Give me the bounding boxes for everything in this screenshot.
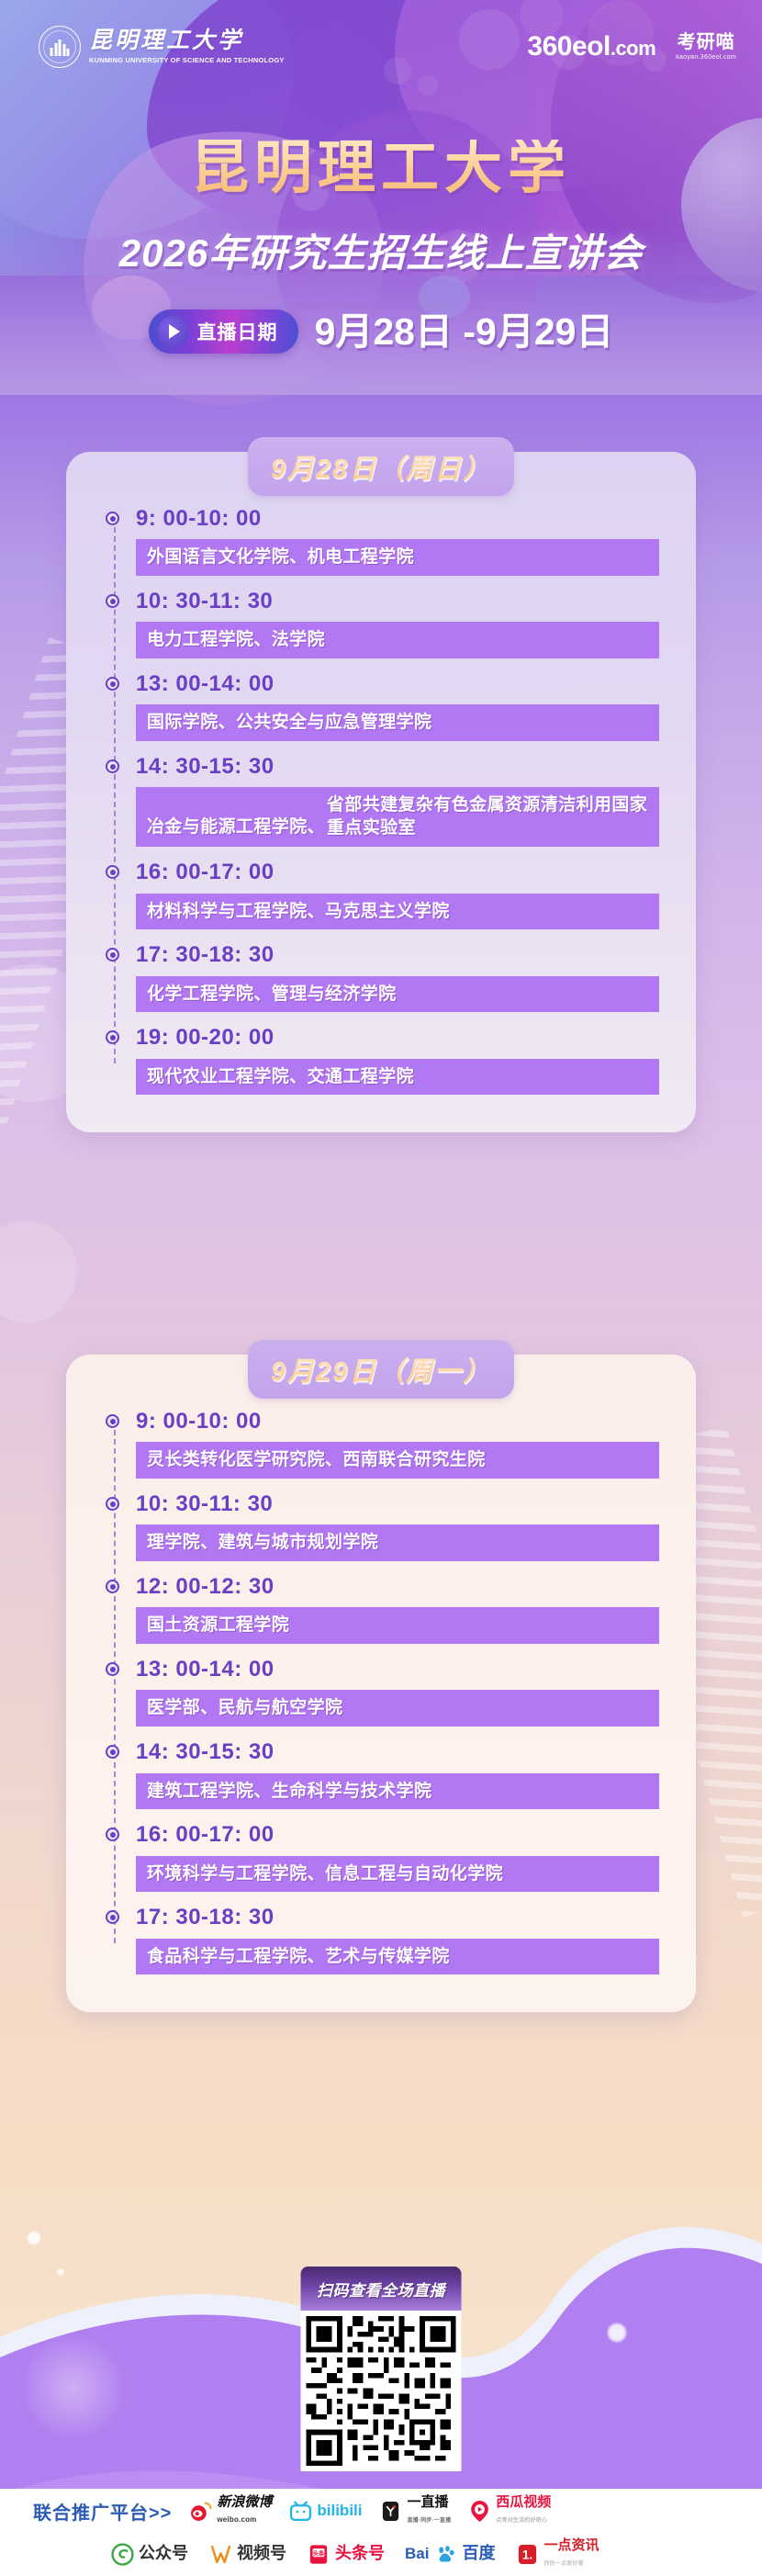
slot-time: 9: 00-10: 00 <box>136 1410 659 1434</box>
schedule-slot[interactable]: 9: 00-10: 00 外国语言文化学院、机电工程学院 <box>106 507 659 576</box>
poster-root: 昆明理工大学 KUNMING UNIVERSITY OF SCIENCE AND… <box>0 0 762 2576</box>
yidian-icon: 1. <box>515 2542 539 2566</box>
timeline-dot-icon <box>106 1414 119 1428</box>
slot-colleges: 建筑工程学院、生命科学与技术学院 <box>136 1773 659 1810</box>
timeline-dot-icon <box>106 1828 119 1841</box>
weibo-label: 新浪微博 weibo.com <box>217 2495 272 2526</box>
eol-logo-main: 360eol <box>527 31 610 62</box>
university-seal-icon <box>39 26 81 68</box>
timeline-dot-icon <box>106 1030 119 1044</box>
baidu-paw-icon <box>433 2542 457 2566</box>
qr-code-icon[interactable] <box>301 2311 462 2471</box>
toutiao-name: 头条号 <box>335 2544 385 2562</box>
kaoyan-url: kaoyan.360eol.com <box>676 54 736 61</box>
schedule-slot[interactable]: 14: 30-15: 30 冶金与能源工程学院、 省部共建复杂有色金属资源清洁利… <box>106 755 659 847</box>
bilibili-name: bilibili <box>317 2502 362 2519</box>
slot-colleges: 食品科学与工程学院、艺术与传媒学院 <box>136 1939 659 1975</box>
weibo-name-cn: 新浪微博 <box>217 2494 272 2510</box>
timeline-dot-icon <box>106 677 119 691</box>
timeline-dot-icon <box>106 1497 119 1511</box>
partner-wechat-official[interactable]: 公众号 <box>110 2538 188 2570</box>
slot-colleges: 材料科学与工程学院、马克思主义学院 <box>136 894 659 930</box>
timeline-dot-icon <box>106 1745 119 1759</box>
yizhibo-name-en: 直播·同步·一直播 <box>407 2518 451 2524</box>
university-name-cn: 昆明理工大学 <box>89 29 285 52</box>
footer-row-2: 公众号 视频号 头条 头条号 <box>0 2533 762 2576</box>
schedule-slot[interactable]: 17: 30-18: 30 化学工程学院、管理与经济学院 <box>106 943 659 1012</box>
slot-time: 17: 30-18: 30 <box>136 943 659 967</box>
wechat-official-label: 公众号 <box>139 2545 188 2563</box>
schedule-slot[interactable]: 13: 00-14: 00 国际学院、公共安全与应急管理学院 <box>106 672 659 741</box>
seal-bars-icon <box>50 39 70 56</box>
timeline-dot-icon <box>106 759 119 773</box>
slot-colleges: 化学工程学院、管理与经济学院 <box>136 976 659 1013</box>
timeline-dot-icon <box>106 594 119 608</box>
toutiao-label: 头条号 <box>335 2545 385 2563</box>
day2-badge: 9月29日（周一） <box>248 1340 514 1399</box>
baidu-wordmark: Bai <box>405 2546 429 2563</box>
channels-label: 视频号 <box>237 2545 286 2563</box>
channels-name: 视频号 <box>237 2544 286 2562</box>
schedule-slot[interactable]: 14: 30-15: 30 建筑工程学院、生命科学与技术学院 <box>106 1740 659 1809</box>
yizhibo-icon <box>378 2499 402 2523</box>
yidian-name-cn: 一点资讯 <box>543 2537 599 2553</box>
yizhibo-label: 一直播 直播·同步·一直播 <box>407 2495 451 2526</box>
xigua-name-cn: 西瓜视频 <box>496 2494 551 2510</box>
qr-caption: 扫码查看全场直播 <box>317 2278 445 2300</box>
eol-logo-tld: .com <box>611 37 656 60</box>
timeline-dot-icon <box>106 1580 119 1593</box>
xigua-name-en: 点亮对生活的好奇心 <box>496 2518 547 2524</box>
page-subtitle: 2026年研究生招生线上宣讲会 <box>0 234 762 273</box>
bilibili-label: bilibili <box>317 2503 362 2520</box>
channels-icon <box>208 2542 232 2566</box>
header-bar: 昆明理工大学 KUNMING UNIVERSITY OF SCIENCE AND… <box>0 17 762 77</box>
timeline-dot-icon <box>106 1662 119 1676</box>
timeline-dot-icon <box>106 512 119 525</box>
qr-caption-bar: 扫码查看全场直播 <box>301 2267 462 2311</box>
schedule-slot[interactable]: 19: 00-20: 00 现代农业工程学院、交通工程学院 <box>106 1026 659 1095</box>
wechat-official-name: 公众号 <box>139 2544 188 2562</box>
kaoyan-logo[interactable]: 考研喵 kaoyan.360eol.com <box>676 33 736 61</box>
kaoyan-name: 考研喵 <box>676 33 736 51</box>
schedule-slot[interactable]: 13: 00-14: 00 医学部、民航与航空学院 <box>106 1658 659 1727</box>
day1-badge-label: 9月28日（周日） <box>271 447 491 486</box>
schedule-slot[interactable]: 16: 00-17: 00 环境科学与工程学院、信息工程与自动化学院 <box>106 1823 659 1892</box>
slot-time: 17: 30-18: 30 <box>136 1906 659 1929</box>
yidian-name-en: 你的一点更好看 <box>543 2561 583 2567</box>
slot-colleges: 冶金与能源工程学院、 省部共建复杂有色金属资源清洁利用国家重点实验室 <box>136 787 659 847</box>
yidian-label: 一点资讯 你的一点更好看 <box>543 2538 599 2570</box>
yizhibo-name-cn: 一直播 <box>407 2494 448 2510</box>
weibo-name-en: weibo.com <box>217 2515 256 2524</box>
schedule-slot[interactable]: 10: 30-11: 30 理学院、建筑与城市规划学院 <box>106 1492 659 1561</box>
slot-colleges-part2: 省部共建复杂有色金属资源清洁利用国家重点实验室 <box>327 794 648 839</box>
schedule-slot[interactable]: 9: 00-10: 00 灵长类转化医学研究院、西南联合研究生院 <box>106 1410 659 1479</box>
svg-text:1.: 1. <box>522 2548 532 2561</box>
slot-time: 16: 00-17: 00 <box>136 1823 659 1847</box>
footer-row-1: 联合推广平台>> 新浪微博 weibo.com bilibili <box>0 2490 762 2533</box>
baidu-name: 百度 <box>462 2544 495 2562</box>
schedule-card-day2: 9月29日（周一） 9: 00-10: 00 灵长类转化医学研究院、西南联合研究… <box>66 1355 696 2012</box>
weibo-icon <box>188 2499 212 2523</box>
slot-colleges: 国土资源工程学院 <box>136 1607 659 1644</box>
slot-colleges: 环境科学与工程学院、信息工程与自动化学院 <box>136 1856 659 1893</box>
eol-logo[interactable]: 360eol.com <box>527 33 656 61</box>
schedule-slot[interactable]: 12: 00-12: 30 国土资源工程学院 <box>106 1575 659 1644</box>
timeline-dot-icon <box>106 1910 119 1924</box>
slot-time: 13: 00-14: 00 <box>136 672 659 696</box>
slot-colleges: 电力工程学院、法学院 <box>136 622 659 658</box>
slot-time: 9: 00-10: 00 <box>136 507 659 531</box>
schedule-slot[interactable]: 10: 30-11: 30 电力工程学院、法学院 <box>106 590 659 658</box>
live-date-badge: 直播日期 <box>149 309 298 354</box>
toutiao-icon: 头条 <box>307 2542 331 2566</box>
xigua-label: 西瓜视频 点亮对生活的好奇心 <box>496 2495 551 2526</box>
day2-timeline: 9: 00-10: 00 灵长类转化医学研究院、西南联合研究生院 10: 30-… <box>66 1397 696 1974</box>
schedule-slot[interactable]: 16: 00-17: 00 材料科学与工程学院、马克思主义学院 <box>106 861 659 929</box>
slot-time: 10: 30-11: 30 <box>136 1492 659 1516</box>
partner-channels[interactable]: 视频号 <box>208 2538 286 2570</box>
partner-baidu[interactable]: Bai 百度 <box>405 2538 495 2570</box>
partner-brands: 360eol.com 考研喵 kaoyan.360eol.com <box>527 33 736 61</box>
schedule-slot[interactable]: 17: 30-18: 30 食品科学与工程学院、艺术与传媒学院 <box>106 1906 659 1974</box>
slot-colleges-part1: 冶金与能源工程学院、 <box>147 816 325 839</box>
play-icon <box>158 316 189 347</box>
day1-badge: 9月28日（周日） <box>248 437 514 496</box>
schedule-card-day1: 9月28日（周日） 9: 00-10: 00 外国语言文化学院、机电工程学院 1… <box>66 452 696 1132</box>
bilibili-icon <box>288 2499 312 2523</box>
slot-colleges: 灵长类转化医学研究院、西南联合研究生院 <box>136 1442 659 1479</box>
university-logo-text: 昆明理工大学 KUNMING UNIVERSITY OF SCIENCE AND… <box>89 29 285 64</box>
wechat-official-icon <box>110 2542 134 2566</box>
baidu-label: 百度 <box>462 2545 495 2563</box>
slot-colleges: 现代农业工程学院、交通工程学院 <box>136 1059 659 1096</box>
footer-partners: 联合推广平台>> 新浪微博 weibo.com bilibili <box>0 2489 762 2576</box>
xigua-icon <box>467 2499 491 2523</box>
timeline-dot-icon <box>106 948 119 962</box>
partner-xigua[interactable]: 西瓜视频 点亮对生活的好奇心 <box>467 2495 551 2526</box>
live-date-range: 9月28日 -9月29日 <box>315 313 614 351</box>
slot-time: 14: 30-15: 30 <box>136 1740 659 1764</box>
baidu-latin: Bai <box>405 2545 429 2562</box>
day2-badge-label: 9月29日（周一） <box>271 1350 491 1389</box>
partner-yizhibo[interactable]: 一直播 直播·同步·一直播 <box>378 2495 451 2526</box>
university-name-en: KUNMING UNIVERSITY OF SCIENCE AND TECHNO… <box>89 56 285 64</box>
slot-colleges: 外国语言文化学院、机电工程学院 <box>136 539 659 576</box>
slot-time: 13: 00-14: 00 <box>136 1658 659 1682</box>
partner-weibo[interactable]: 新浪微博 weibo.com <box>188 2495 272 2526</box>
svg-text:头条: 头条 <box>313 2548 325 2557</box>
slot-time: 19: 00-20: 00 <box>136 1026 659 1050</box>
timeline-dot-icon <box>106 865 119 879</box>
partner-bilibili[interactable]: bilibili <box>288 2495 362 2526</box>
slot-colleges: 医学部、民航与航空学院 <box>136 1690 659 1727</box>
page-title: 昆明理工大学 <box>0 140 762 197</box>
slot-time: 12: 00-12: 30 <box>136 1575 659 1599</box>
partner-yidian[interactable]: 1. 一点资讯 你的一点更好看 <box>515 2538 599 2570</box>
live-date-row: 直播日期 9月28日 -9月29日 <box>0 309 762 354</box>
slot-time: 16: 00-17: 00 <box>136 861 659 884</box>
live-date-label: 直播日期 <box>197 318 278 345</box>
promo-label: 联合推广平台>> <box>33 2498 172 2525</box>
day1-timeline: 9: 00-10: 00 外国语言文化学院、机电工程学院 10: 30-11: … <box>66 494 696 1095</box>
slot-time: 14: 30-15: 30 <box>136 755 659 779</box>
slot-colleges: 国际学院、公共安全与应急管理学院 <box>136 704 659 741</box>
slot-time: 10: 30-11: 30 <box>136 590 659 613</box>
slot-colleges: 理学院、建筑与城市规划学院 <box>136 1524 659 1561</box>
qr-section[interactable]: 扫码查看全场直播 <box>301 2267 462 2471</box>
university-logo[interactable]: 昆明理工大学 KUNMING UNIVERSITY OF SCIENCE AND… <box>39 26 285 68</box>
partner-toutiao[interactable]: 头条 头条号 <box>307 2538 385 2570</box>
